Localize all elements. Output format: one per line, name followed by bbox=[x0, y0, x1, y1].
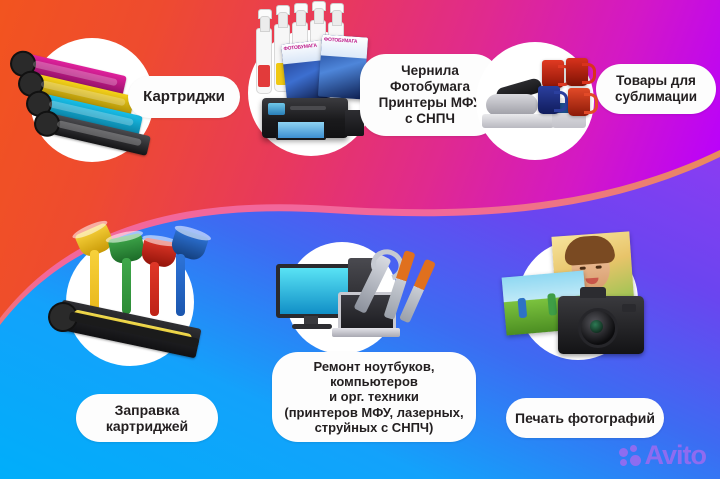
green-paint-pour bbox=[122, 258, 131, 314]
avito-wordmark: Avito bbox=[645, 442, 707, 469]
printed-mug bbox=[568, 88, 590, 116]
avito-dots-logo bbox=[619, 445, 641, 467]
label-cartridges: Картриджи bbox=[128, 76, 240, 118]
repair-image bbox=[270, 244, 440, 356]
printed-mug bbox=[566, 58, 588, 86]
printed-mug bbox=[538, 86, 560, 114]
label-sublimation: Товары для сублимации bbox=[596, 64, 716, 114]
ink-bottle bbox=[256, 28, 272, 94]
refill-image bbox=[56, 222, 216, 372]
avito-watermark: Avito bbox=[619, 442, 707, 469]
label-photo-printing: Печать фотографий bbox=[506, 398, 664, 438]
photo-image bbox=[498, 232, 670, 362]
printed-mug bbox=[542, 60, 564, 88]
promo-banner: Картриджи ФОТОБУМАГА ФОТОБУМАГА Чернила … bbox=[0, 0, 720, 479]
label-cartridge-refill: Заправка картриджей bbox=[76, 394, 218, 442]
red-paint-pour bbox=[150, 262, 159, 316]
blue-paint-pour bbox=[176, 254, 185, 316]
dslr-camera bbox=[558, 296, 644, 354]
inkjet-printer-with-ciss bbox=[262, 98, 348, 138]
label-repair: Ремонт ноутбуков, компьютеров и орг. тех… bbox=[272, 352, 476, 442]
sublimation-image bbox=[480, 56, 608, 148]
yellow-paint-pour bbox=[90, 250, 99, 312]
